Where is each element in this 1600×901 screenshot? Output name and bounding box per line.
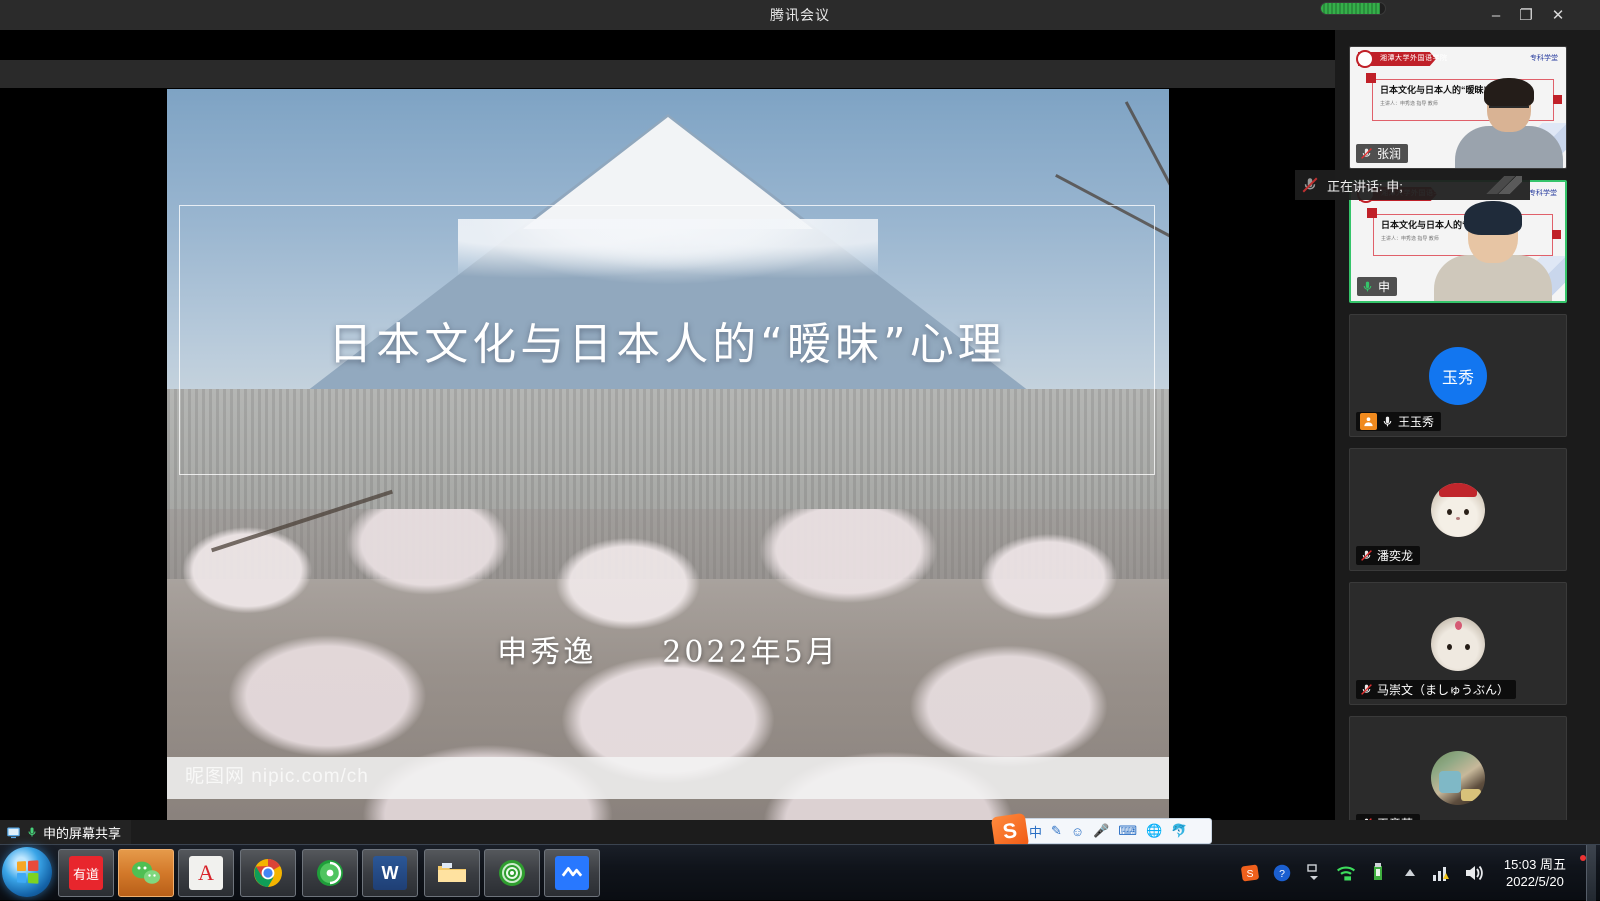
taskbar-item-explorer[interactable]: [424, 849, 480, 897]
participant-name: 张润: [1377, 145, 1401, 162]
taskbar-item-chrome[interactable]: [240, 849, 296, 897]
speaking-notification-text: 正在讲话: 申;: [1327, 176, 1403, 195]
microphone-active-icon: [1381, 415, 1394, 428]
mini-slide-subtitle: 主讲人：申秀逸 指导 教师: [1380, 100, 1438, 107]
cat-eye-icon: [1447, 644, 1452, 650]
show-hidden-icons-icon[interactable]: [1304, 863, 1324, 883]
360-browser-icon: [313, 856, 347, 890]
cat-eye-icon: [1465, 644, 1470, 650]
shared-slide: 日本文化与日本人的“暧昧”心理 申秀逸 2022年5月 昵图网 nipic.co…: [167, 89, 1169, 841]
taskbar-clock[interactable]: 15:03 周五 2022/5/20: [1496, 856, 1574, 890]
slide-banner-right-text: 专科学堂: [1529, 188, 1557, 198]
folder-icon: [435, 856, 469, 890]
wifi-icon[interactable]: [1336, 863, 1356, 883]
cat-eye-icon: [1464, 509, 1469, 515]
slide-banner-text: 湘潭大学外国语学院: [1380, 53, 1448, 63]
slide-banner-right-text: 专科学堂: [1530, 53, 1558, 63]
shared-screen-stage: 日本文化与日本人的“暧昧”心理 申秀逸 2022年5月 昵图网 nipic.co…: [0, 30, 1335, 820]
participant-name-badge: 马崇文（ましゅうぶん）: [1356, 680, 1516, 699]
windows-taskbar[interactable]: 有道 A: [0, 844, 1600, 900]
avatar: 玉秀: [1429, 347, 1487, 405]
microphone-muted-icon: [1360, 549, 1373, 562]
avatar: [1431, 617, 1485, 671]
share-status-label: 申的屏幕共享: [43, 823, 121, 842]
microphone-muted-icon: [1360, 147, 1373, 160]
ime-emoji-icon[interactable]: ☺: [1071, 824, 1084, 839]
participant-rail[interactable]: 湘潭大学外国语学院 专科学堂 日本文化与日本人的“暧昧”心理 主讲人：申秀逸 指…: [1335, 30, 1600, 820]
notification-dot-icon: [1580, 855, 1586, 861]
slide-title: 日本文化与日本人的“暧昧”心理: [180, 206, 1154, 474]
microphone-active-icon: [1361, 280, 1374, 293]
tencent-meeting-icon: [555, 856, 589, 890]
avatar-initials: 玉秀: [1442, 364, 1474, 388]
usb-icon[interactable]: [1368, 863, 1388, 883]
university-logo-icon: [1356, 50, 1374, 68]
participant-name-badge: 王玉秀: [1356, 412, 1441, 431]
ime-pen-icon[interactable]: ✎: [1051, 823, 1062, 839]
avatar-photo-detail: [1461, 789, 1481, 801]
acrobat-icon: A: [189, 856, 223, 890]
word-icon: W: [373, 856, 407, 890]
show-desktop-button[interactable]: [1586, 845, 1596, 901]
volume-icon[interactable]: [1464, 863, 1484, 883]
clock-date: 2022/5/20: [1504, 873, 1566, 890]
taskbar-item-netmeeting[interactable]: [484, 849, 540, 897]
taskbar-item-acrobat[interactable]: A: [178, 849, 234, 897]
taskbar-item-tencentmeeting[interactable]: [544, 849, 600, 897]
avatar-photo-kitchen: [1439, 771, 1461, 793]
participant-person: [1449, 82, 1567, 168]
participant-tile[interactable]: 潘奕龙: [1349, 448, 1567, 571]
participant-tile[interactable]: 马崇文（ましゅうぶん）: [1349, 582, 1567, 705]
taskbar-item-youdao[interactable]: 有道: [58, 849, 114, 897]
taskbar-item-word[interactable]: W: [362, 849, 418, 897]
avatar-photo-cat-santa: [1439, 483, 1477, 497]
participant-name-badge: 潘奕龙: [1356, 546, 1420, 565]
ime-language-toggle[interactable]: 中: [1029, 822, 1042, 841]
slide-red-square: [1367, 208, 1377, 218]
window-title-bar[interactable]: 腾讯会议 – ❐ ✕: [0, 0, 1600, 30]
clock-time: 15:03 周五: [1504, 856, 1566, 873]
system-tray[interactable]: S ?: [1240, 845, 1600, 901]
broadcast-icon: [495, 856, 529, 890]
participant-name-badge: 张润: [1356, 144, 1408, 163]
participant-name: 王玉秀: [1398, 413, 1434, 430]
wechat-icon: [129, 856, 163, 890]
slide-red-square: [1366, 73, 1376, 83]
participant-name: 申: [1378, 278, 1390, 295]
sogou-icon[interactable]: S: [1240, 863, 1260, 883]
up-arrow-icon[interactable]: [1400, 863, 1420, 883]
ime-toolbar[interactable]: S 中 ✎ ☺ 🎤 ⌨ 🌐 🐬: [996, 818, 1212, 844]
ime-voice-icon[interactable]: 🎤: [1093, 823, 1109, 839]
speaking-notification: 正在讲话: 申;: [1295, 170, 1530, 200]
help-icon[interactable]: ?: [1272, 863, 1292, 883]
close-button[interactable]: ✕: [1540, 0, 1576, 30]
svg-text:?: ?: [1279, 868, 1285, 880]
shared-window-chrome-strip: [0, 60, 1335, 88]
svg-text:S: S: [1246, 868, 1253, 880]
host-badge-icon: [1360, 413, 1377, 430]
cat-nose-icon: [1456, 517, 1460, 520]
participant-name: 马崇文（ましゅうぶん）: [1377, 681, 1509, 698]
share-status-bar: [0, 820, 1600, 844]
signal-icon[interactable]: [1432, 863, 1452, 883]
participant-person: [1428, 201, 1558, 301]
youdao-icon: 有道: [69, 856, 103, 890]
ime-translate-icon[interactable]: 🌐: [1146, 823, 1162, 839]
microphone-muted-icon: [1301, 176, 1319, 194]
participant-tile[interactable]: 湘潭大学外国语学院 专科学堂 日本文化与日本人的“暧昧”心理 主讲人：申秀逸 指…: [1349, 46, 1567, 169]
slide-title-frame: 日本文化与日本人的“暧昧”心理: [179, 205, 1155, 475]
ime-toolbox-icon[interactable]: 🐬: [1171, 823, 1187, 839]
participant-name-badge: 申: [1357, 277, 1397, 296]
avatar: [1431, 483, 1485, 537]
avatar-photo-cat-white: [1455, 621, 1462, 630]
avatar: [1431, 751, 1485, 805]
chrome-icon: [251, 856, 285, 890]
slide-watermark: 昵图网 nipic.com/ch: [185, 761, 369, 788]
cat-eye-icon: [1447, 509, 1452, 515]
participant-tile[interactable]: 玉秀 王玉秀: [1349, 314, 1567, 437]
screen-share-icon: [6, 825, 21, 840]
microphone-muted-icon: [1360, 683, 1373, 696]
microphone-icon: [26, 825, 38, 839]
taskbar-item-360browser[interactable]: [302, 849, 358, 897]
ime-keyboard-icon[interactable]: ⌨: [1118, 823, 1137, 839]
recording-level-indicator: [1320, 2, 1386, 15]
slide-subtitle: 申秀逸 2022年5月: [167, 627, 1169, 671]
start-button[interactable]: [2, 847, 52, 897]
share-status-pill[interactable]: 申的屏幕共享: [0, 820, 131, 844]
participant-name: 潘奕龙: [1377, 547, 1413, 564]
taskbar-item-wechat[interactable]: [118, 849, 174, 897]
maximize-button[interactable]: ❐: [1508, 0, 1544, 30]
chevron-decor-icon: [1478, 176, 1522, 194]
windows-logo-icon: [17, 860, 38, 884]
